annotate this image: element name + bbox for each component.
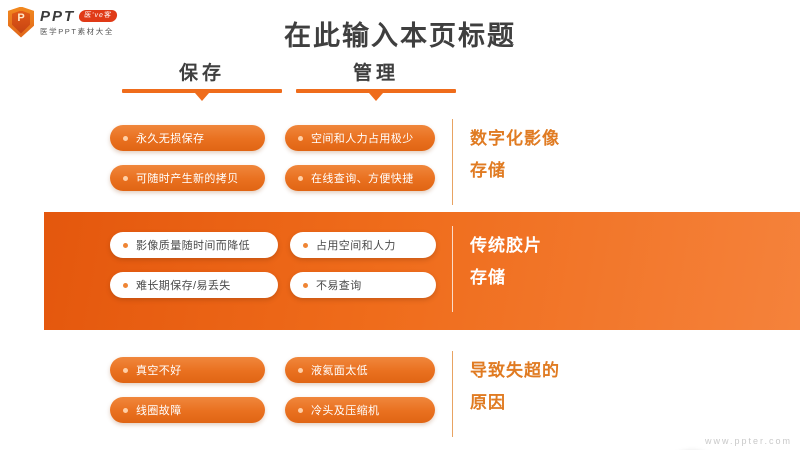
bullet-icon bbox=[298, 408, 303, 413]
list-item-label: 影像质量随时间而降低 bbox=[136, 237, 250, 253]
list-item-label: 冷头及压缩机 bbox=[311, 402, 379, 418]
watermark: www.ppter.com bbox=[705, 436, 792, 446]
list-item-label: 可随时产生新的拷贝 bbox=[136, 170, 239, 186]
bullet-icon bbox=[298, 176, 303, 181]
bullet-icon bbox=[123, 408, 128, 413]
list-item[interactable]: 液氦面太低 bbox=[285, 357, 435, 383]
list-item-label: 难长期保存/易丢失 bbox=[136, 277, 231, 293]
bullet-icon bbox=[123, 368, 128, 373]
bullet-icon bbox=[123, 176, 128, 181]
row-heading: 导致失超的 原因 bbox=[470, 355, 630, 419]
pill-group: 永久无损保存 可随时产生新的拷贝 空间和人力占用极少 在线查询、方便快捷 bbox=[100, 117, 452, 209]
row-divider bbox=[452, 226, 453, 312]
row-heading-line2: 存储 bbox=[470, 155, 630, 187]
column-header-manage-label: 管理 bbox=[296, 62, 456, 86]
list-item[interactable]: 在线查询、方便快捷 bbox=[285, 165, 435, 191]
list-item[interactable]: 影像质量随时间而降低 bbox=[110, 232, 278, 258]
content-row: 影像质量随时间而降低 难长期保存/易丢失 占用空间和人力 不易查询 传统胶片 存… bbox=[0, 212, 800, 330]
row-divider bbox=[452, 119, 453, 205]
row-heading-line1: 数字化影像 bbox=[470, 123, 630, 155]
column-headers: 保存 管理 bbox=[100, 62, 450, 104]
column-header-save: 保存 bbox=[122, 62, 282, 93]
bullet-icon bbox=[298, 136, 303, 141]
list-item[interactable]: 难长期保存/易丢失 bbox=[110, 272, 278, 298]
list-item-label: 在线查询、方便快捷 bbox=[311, 170, 414, 186]
row-heading-line2: 存储 bbox=[470, 262, 630, 294]
list-item-label: 永久无损保存 bbox=[136, 130, 204, 146]
column-header-manage-underline bbox=[296, 89, 456, 93]
list-item[interactable]: 永久无损保存 bbox=[110, 125, 265, 151]
list-item[interactable]: 占用空间和人力 bbox=[290, 232, 436, 258]
list-item-label: 液氦面太低 bbox=[311, 362, 368, 378]
list-item[interactable]: 可随时产生新的拷贝 bbox=[110, 165, 265, 191]
pill-group: 影像质量随时间而降低 难长期保存/易丢失 占用空间和人力 不易查询 bbox=[100, 224, 452, 316]
column-header-save-label: 保存 bbox=[122, 62, 282, 86]
content-row: 真空不好 线圈故障 液氦面太低 冷头及压缩机 导致失超的 原因 bbox=[0, 337, 800, 450]
list-item-label: 占用空间和人力 bbox=[316, 237, 396, 253]
bullet-icon bbox=[298, 368, 303, 373]
slide-canvas: P PPT 医've客 医学PPT素材大全 在此输入本页标题 保存 管理 永久无… bbox=[0, 0, 800, 450]
list-item-label: 不易查询 bbox=[316, 277, 362, 293]
column-header-save-underline bbox=[122, 89, 282, 93]
page-title: 在此输入本页标题 bbox=[0, 14, 800, 53]
list-item[interactable]: 线圈故障 bbox=[110, 397, 265, 423]
row-divider bbox=[452, 351, 453, 437]
row-heading-line1: 传统胶片 bbox=[470, 230, 630, 262]
row-heading: 数字化影像 存储 bbox=[470, 123, 630, 187]
list-item[interactable]: 空间和人力占用极少 bbox=[285, 125, 435, 151]
list-item[interactable]: 真空不好 bbox=[110, 357, 265, 383]
pill-group: 真空不好 线圈故障 液氦面太低 冷头及压缩机 bbox=[100, 349, 452, 441]
bullet-icon bbox=[303, 243, 308, 248]
list-item[interactable]: 不易查询 bbox=[290, 272, 436, 298]
row-heading: 传统胶片 存储 bbox=[470, 230, 630, 294]
row-heading-line1: 导致失超的 bbox=[470, 355, 630, 387]
list-item-label: 真空不好 bbox=[136, 362, 182, 378]
list-item-label: 空间和人力占用极少 bbox=[311, 130, 414, 146]
bullet-icon bbox=[123, 243, 128, 248]
content-row: 永久无损保存 可随时产生新的拷贝 空间和人力占用极少 在线查询、方便快捷 数字化… bbox=[0, 105, 800, 223]
list-item[interactable]: 冷头及压缩机 bbox=[285, 397, 435, 423]
bullet-icon bbox=[123, 283, 128, 288]
row-heading-line2: 原因 bbox=[470, 387, 630, 419]
column-header-manage: 管理 bbox=[296, 62, 456, 93]
bullet-icon bbox=[123, 136, 128, 141]
bullet-icon bbox=[303, 283, 308, 288]
list-item-label: 线圈故障 bbox=[136, 402, 182, 418]
